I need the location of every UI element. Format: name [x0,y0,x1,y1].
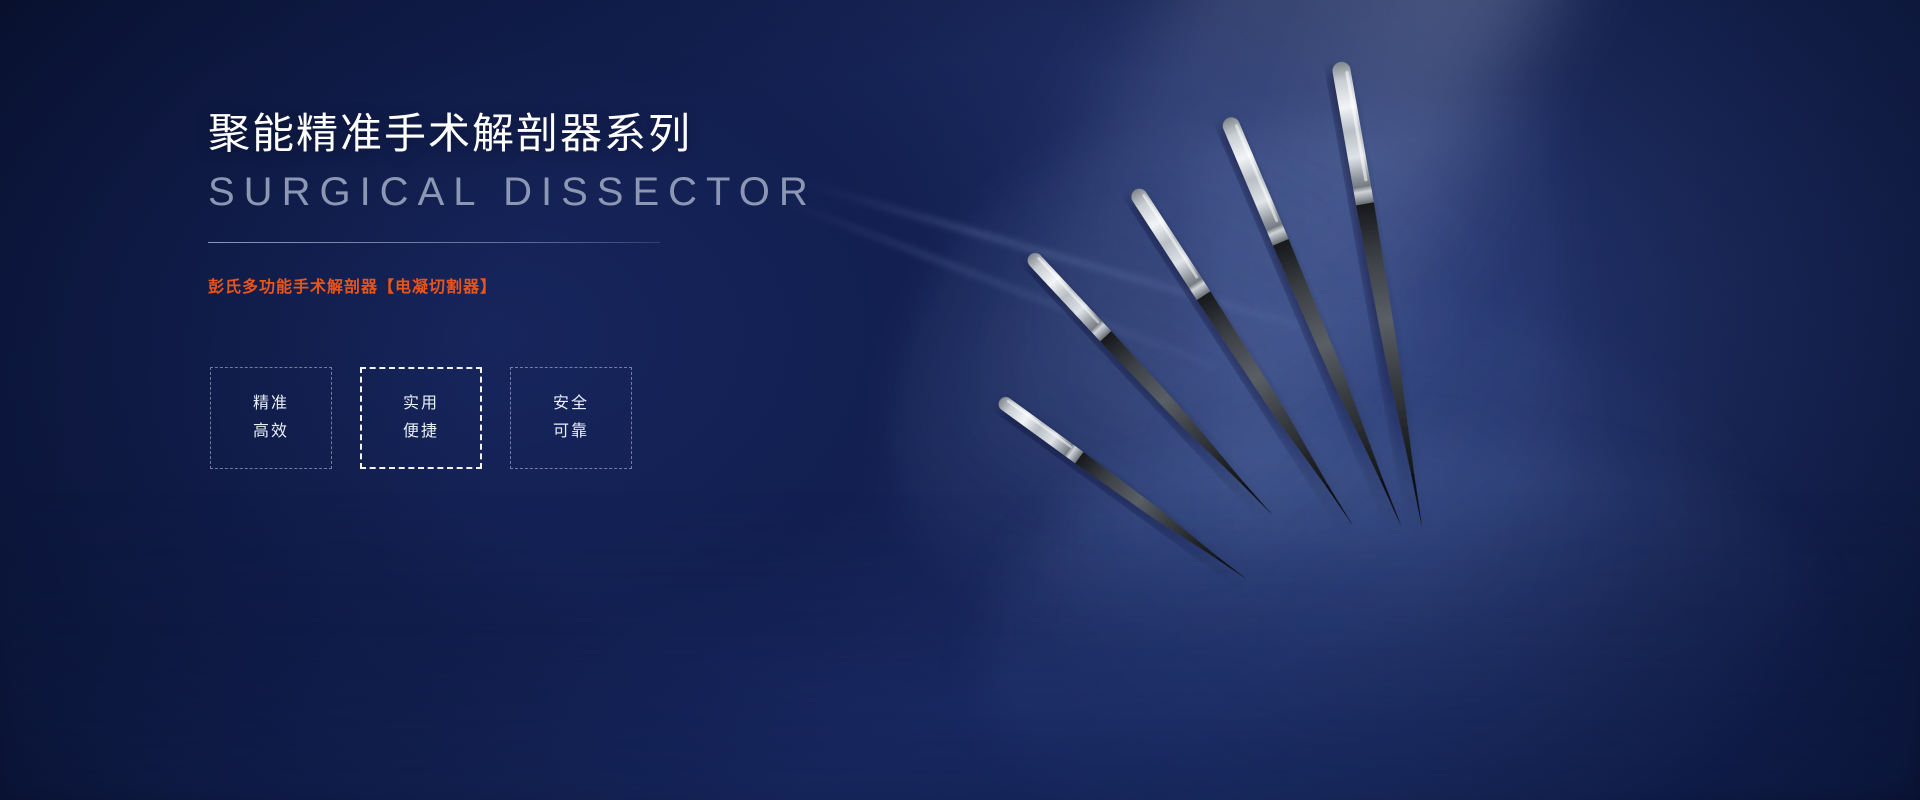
light-ray [921,0,1569,613]
ghost-hand-lower [1025,253,1816,800]
feature-box-practical[interactable]: 实用 便捷 [360,367,482,469]
feature-line-1: 安全 [553,390,589,418]
feature-line-1: 精准 [253,390,289,418]
feature-line-2: 高效 [253,418,289,446]
divider [208,242,660,243]
feature-box-precision[interactable]: 精准 高效 [210,367,332,469]
dissector-5 [1331,60,1431,528]
floor-sheen [0,500,1920,800]
dissector-4 [1220,115,1409,529]
feature-line-2: 便捷 [403,418,439,446]
page-title: 聚能精准手术解剖器系列 [208,108,908,161]
ghost-tray-shape [1189,102,1591,557]
light-ray-secondary [1207,0,1632,434]
banner-text-block: 聚能精准手术解剖器系列 SURGICAL DISSECTOR 彭氏多功能手术解剖… [208,108,908,297]
feature-line-1: 实用 [403,390,439,418]
ghost-hand-upper [833,61,1548,699]
dissector-2 [1025,250,1278,520]
dissector-3 [1128,186,1359,530]
feature-line-2: 可靠 [553,418,589,446]
dissector-1 [996,394,1250,584]
page-subtitle-en: SURGICAL DISSECTOR [208,169,908,216]
ghost-forearm [980,430,1820,800]
feature-box-safety[interactable]: 安全 可靠 [510,367,632,469]
product-banner: 聚能精准手术解剖器系列 SURGICAL DISSECTOR 彭氏多功能手术解剖… [0,0,1920,800]
product-name-label: 彭氏多功能手术解剖器【电凝切割器】 [208,273,908,297]
feature-box-group: 精准 高效 实用 便捷 安全 可靠 [210,367,632,469]
